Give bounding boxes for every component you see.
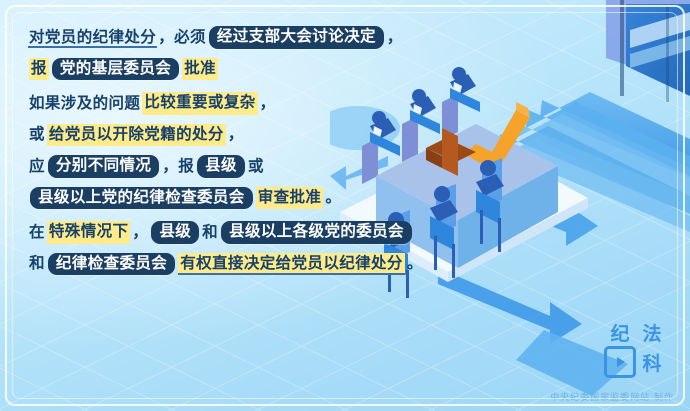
text-segment-plain: ， (386, 27, 404, 49)
text-segment-plain: 。 (324, 187, 342, 209)
text-segment-highlight-underline: 有权直接决定给党员以纪律处分 (178, 253, 405, 275)
paragraph-3: 在特殊情况下，县级和县级以上各级党的委员会 和纪律检查委员会有权直接决定给党员以… (28, 221, 458, 275)
logo-char-ke: 科 (636, 346, 668, 378)
text-line: 应分别不同情况，报县级或 (28, 155, 458, 178)
paragraph-1: 对党员的纪律处分，必须经过支部大会讨论决定， 报党的基层委员会批准 (28, 26, 458, 80)
text-line: 报党的基层委员会批准 (28, 58, 458, 81)
text-segment-plain: 或 (247, 156, 265, 178)
text-line: 或给党员以开除党籍的处分， (28, 124, 458, 147)
text-segment-plain: 如果涉及的问题 (28, 93, 141, 115)
text-segment-pill: 县级以上党的纪律检查委员会 (30, 187, 253, 210)
text-segment-plain: ， (131, 222, 149, 244)
text-segment-highlight: 给党员以开除党籍的处分 (47, 124, 226, 147)
text-line: 县级以上党的纪律检查委员会审查批准。 (28, 187, 458, 210)
policy-text-block: 对党员的纪律处分，必须经过支部大会讨论决定， 报党的基层委员会批准 如果涉及的问… (28, 26, 458, 284)
logo-char-ji: 纪 (604, 319, 636, 346)
paragraph-2: 如果涉及的问题比较重要或复杂， 或给党员以开除党籍的处分， 应分别不同情况，报县… (28, 92, 458, 209)
text-segment-underline: 对党员的纪律处分 (28, 27, 157, 49)
text-segment-pill: 分别不同情况 (48, 155, 159, 178)
logo-char-bai-play-icon (604, 346, 636, 378)
text-segment-highlight: 审查批准 (256, 187, 324, 210)
text-segment-highlight: 特殊情况下 (47, 221, 131, 244)
text-segment-plain: ，报 (161, 156, 195, 178)
credit-text: 中央纪委国家监委网站 制作 (550, 390, 674, 403)
text-segment-plain: 在 (28, 222, 46, 244)
text-segment-plain: 和 (28, 253, 46, 275)
text-segment-plain: 或 (28, 124, 46, 146)
text-segment-plain: 和 (201, 222, 219, 244)
text-segment-plain: ，必须 (157, 27, 207, 49)
text-segment-highlight: 批准 (182, 58, 218, 81)
text-segment-highlight: 比较重要或复杂 (142, 92, 257, 115)
text-segment-plain: ， (259, 93, 277, 115)
infographic-canvas: 对党员的纪律处分，必须经过支部大会讨论决定， 报党的基层委员会批准 如果涉及的问… (0, 0, 690, 411)
text-segment-pill: 县级 (151, 221, 199, 244)
building-doorway (606, 0, 690, 102)
text-segment-plain: 。 (406, 253, 424, 275)
text-segment-pill: 纪律检查委员会 (48, 253, 175, 276)
text-line: 对党员的纪律处分，必须经过支部大会讨论决定， (28, 26, 458, 49)
text-segment-pill: 经过支部大会讨论决定 (209, 26, 384, 49)
text-line: 在特殊情况下，县级和县级以上各级党的委员会 (28, 221, 458, 244)
text-segment-plain: ， (227, 124, 245, 146)
text-line: 和纪律检查委员会有权直接决定给党员以纪律处分。 (28, 253, 458, 276)
text-segment-pill: 县级以上各级党的委员会 (221, 221, 412, 244)
text-segment-pill: 党的基层委员会 (52, 58, 179, 81)
jifa-baike-logo: 纪 法 科 (604, 319, 668, 375)
text-segment-pill: 县级 (197, 155, 245, 178)
arrow-right-lower (438, 268, 582, 344)
text-segment-highlight: 报 (29, 58, 49, 81)
text-segment-plain: 应 (28, 156, 46, 178)
logo-char-fa: 法 (636, 319, 668, 346)
text-line: 如果涉及的问题比较重要或复杂， (28, 92, 458, 115)
